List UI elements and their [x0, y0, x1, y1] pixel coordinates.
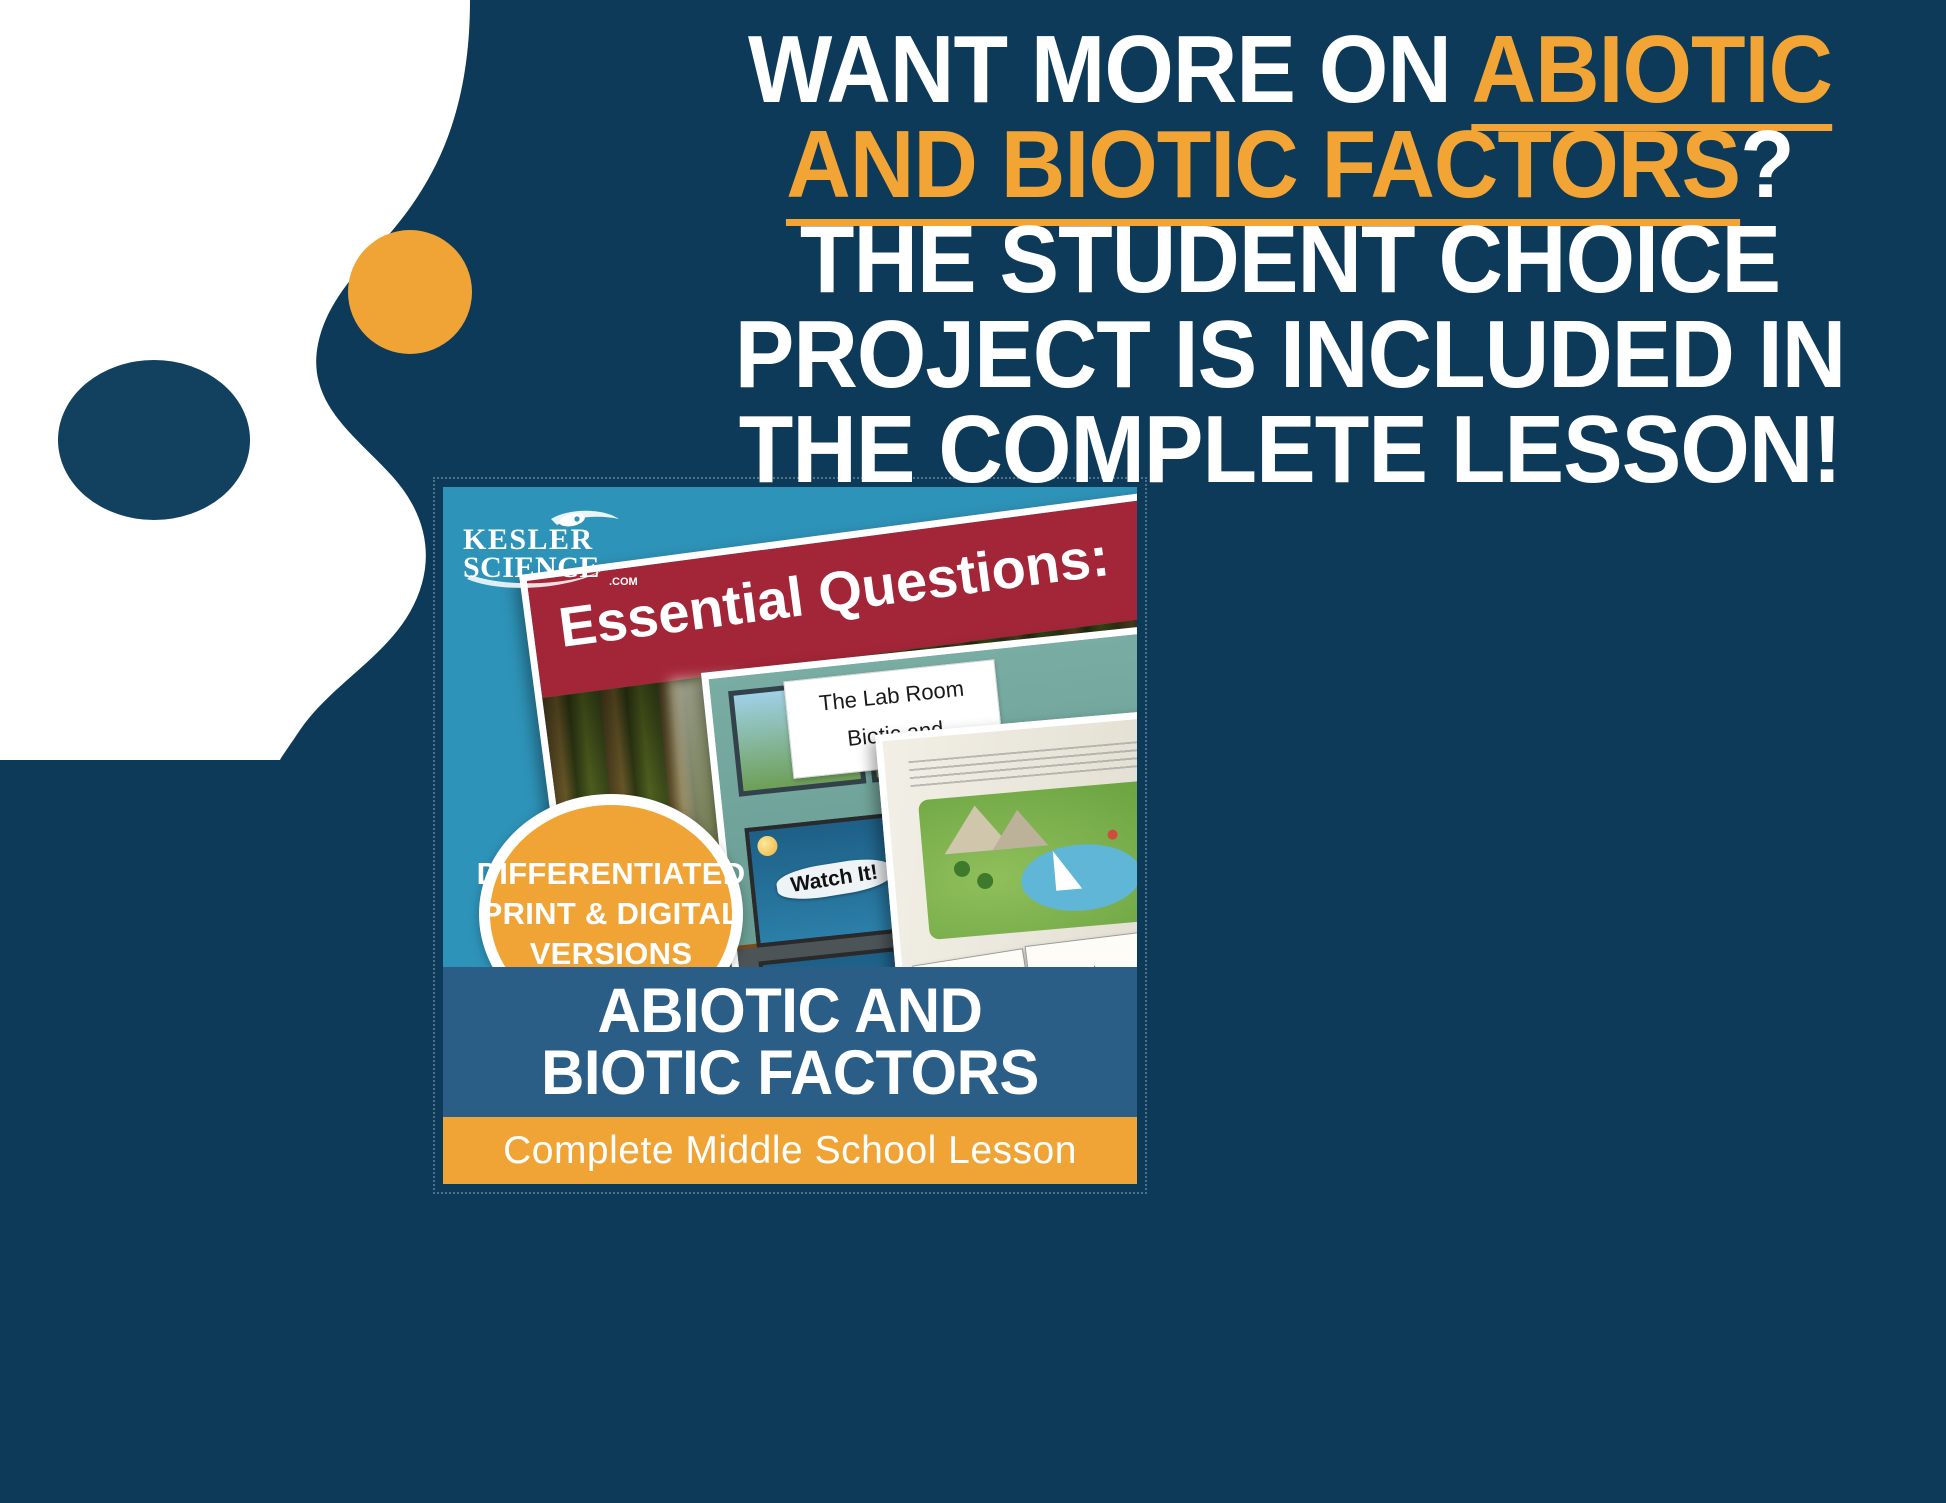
star-burst-icon	[1054, 960, 1137, 967]
sailboat-icon	[1053, 849, 1082, 891]
kesler-science-logo: KESLER SCIENCE .COM	[459, 503, 649, 589]
ecosystem-diagram	[918, 780, 1137, 940]
product-title-band: ABIOTIC AND BIOTIC FACTORS	[443, 967, 1137, 1117]
badge-line-3: VERSIONS	[477, 934, 746, 967]
poster-canvas: WANT MORE ON ABIOTIC AND BIOTIC FACTORS?…	[0, 0, 1946, 1503]
product-subtitle: Complete Middle School Lesson	[503, 1129, 1077, 1173]
headline-line-1: WANT MORE ON ABIOTIC	[704, 22, 1876, 117]
page-title: WANT MORE ON ABIOTIC AND BIOTIC FACTORS?…	[704, 22, 1876, 497]
headline-line-3: THE STUDENT CHOICE	[704, 212, 1876, 307]
badge-line-1: DIFFERENTIATED	[477, 854, 746, 894]
badge-text: DIFFERENTIATED PRINT & DIGITAL VERSIONS	[477, 854, 746, 967]
orange-circle-accent	[348, 230, 472, 354]
product-subtitle-band: Complete Middle School Lesson	[443, 1117, 1137, 1184]
product-title-line-2: BIOTIC FACTORS	[541, 1042, 1039, 1104]
mountain-shape-2	[989, 807, 1048, 850]
badge-line-2: PRINT & DIGITAL	[477, 894, 746, 934]
headline-line-4: PROJECT IS INCLUDED IN	[704, 307, 1876, 402]
navy-circle-accent	[58, 360, 250, 520]
white-blob-shape	[0, 0, 470, 760]
slide-interactive-notebook: Biotic Factors Abiotic Biotic Factors Ab…	[875, 695, 1137, 967]
tree-icon	[953, 860, 970, 877]
product-preview-area: Essential Questions: The Lab Room Biotic…	[443, 487, 1137, 967]
product-title-line-1: ABIOTIC AND	[541, 980, 1039, 1042]
product-thumbnail-card[interactable]: Essential Questions: The Lab Room Biotic…	[443, 487, 1137, 1184]
berry-icon	[1107, 829, 1118, 840]
headline-line-1-pre: WANT MORE ON	[748, 16, 1472, 123]
logo-text-com: .COM	[609, 576, 638, 588]
headline-line-2: AND BIOTIC FACTORS?	[704, 117, 1876, 212]
sun-icon	[756, 835, 778, 857]
tree-icon	[976, 872, 993, 889]
station-tile-label: Watch It!	[775, 854, 894, 904]
product-title: ABIOTIC AND BIOTIC FACTORS	[541, 980, 1039, 1105]
logo-text-science: SCIENCE	[463, 551, 600, 584]
headline-line-5: THE COMPLETE LESSON!	[704, 402, 1876, 497]
headline-question-mark: ?	[1740, 111, 1794, 218]
